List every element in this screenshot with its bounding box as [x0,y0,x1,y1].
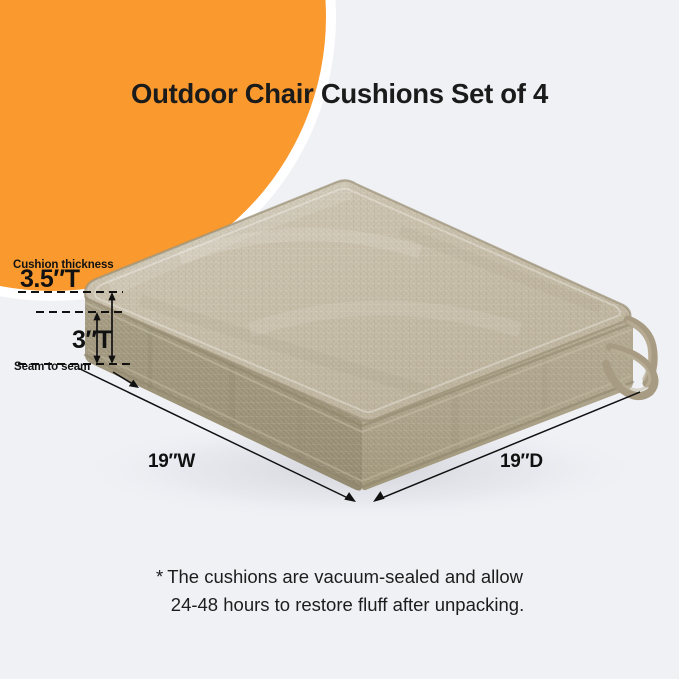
label-depth: 19″D [500,451,543,473]
page-title: Outdoor Chair Cushions Set of 4 [0,78,679,110]
label-seam-value: 3″T [72,326,112,355]
label-thickness-value: 3.5″T [20,265,80,294]
footer-note-line2: 24-48 hours to restore fluff after unpac… [0,591,679,619]
footer-note-line1-text: The cushions are vacuum-sealed and allow [167,566,523,587]
product-infographic: Outdoor Chair Cushions Set of 4 [0,0,679,679]
footer-note: *The cushions are vacuum-sealed and allo… [0,563,679,619]
footer-note-line1: *The cushions are vacuum-sealed and allo… [0,563,679,591]
label-width: 19″W [148,451,195,473]
asterisk-icon: * [156,566,167,587]
label-seam-to-seam: Seam to seam [14,361,90,373]
